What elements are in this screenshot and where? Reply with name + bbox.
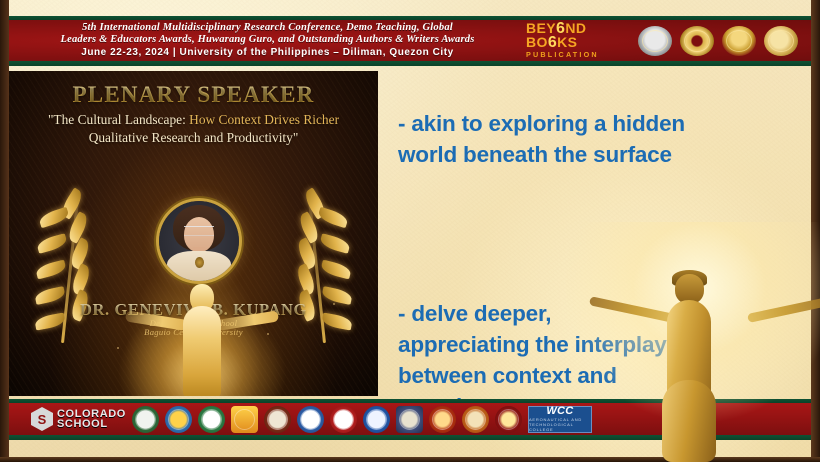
grey-pillar-building-logo-icon	[396, 406, 423, 433]
gold-scroll-seal-icon	[680, 26, 714, 56]
banner-red-body: 5th International Multidisciplinary Rese…	[9, 20, 811, 61]
conference-title-block: 5th International Multidisciplinary Rese…	[9, 22, 520, 59]
talk-title: "The Cultural Landscape: How Context Dri…	[35, 111, 352, 146]
green-circular-seal-icon	[198, 406, 225, 433]
bb-line2-six: 6	[548, 34, 557, 51]
banner-logo-row: BEY6ND BO6KS PUBLICATION	[520, 24, 811, 58]
blue-institution-seal-icon	[363, 406, 390, 433]
maroon-university-seal-icon	[264, 406, 291, 433]
white-blue-seal-icon	[330, 406, 357, 433]
silver-institutional-seal-icon	[638, 26, 672, 56]
talk-title-line1-highlight: How Context Drives Richer	[189, 112, 339, 127]
colorado-logo-line-2: SCHOOL	[57, 419, 126, 430]
quill-and-books-seal-icon	[764, 26, 798, 56]
green-university-seal-icon	[132, 406, 159, 433]
gold-gift-emblem-icon	[231, 406, 258, 433]
slide-paragraph-1-line-1: - akin to exploring a hidden	[398, 108, 794, 139]
plenary-speaker-award-panel: PLENARY SPEAKER "The Cultural Landscape:…	[9, 71, 378, 396]
plenary-speaker-heading: PLENARY SPEAKER	[9, 82, 378, 108]
maroon-eagle-seal-icon	[495, 406, 522, 433]
colorado-school-logo: S COLORADO SCHOOL	[31, 407, 126, 431]
conference-date-venue: June 22-23, 2024 | University of the Phi…	[15, 46, 520, 59]
orange-gear-seal-icon	[462, 406, 489, 433]
gold-award-figure-icon	[127, 282, 277, 396]
colorado-hex-mark-icon: S	[31, 407, 53, 431]
slide-left-frame-edge	[0, 0, 9, 462]
bb-line2-c: KS	[557, 34, 577, 50]
blue-circular-seal-icon	[297, 406, 324, 433]
sunburst-city-seal-icon	[165, 406, 192, 433]
bb-line2-a: BO	[526, 34, 548, 50]
slide-paragraph-1-line-2: world beneath the surface	[398, 139, 794, 170]
conference-top-banner: 5th International Multidisciplinary Rese…	[9, 16, 811, 66]
slide-paragraph-1: - akin to exploring a hidden world benea…	[398, 108, 794, 170]
red-gear-logo-icon	[429, 406, 456, 433]
beyond-books-publication-logo: BEY6ND BO6KS PUBLICATION	[524, 24, 630, 58]
conference-title-line-1: 5th International Multidisciplinary Rese…	[15, 22, 520, 34]
talk-title-line1-pre: "The Cultural Landscape:	[48, 112, 189, 127]
presentation-slide-screenshot: 5th International Multidisciplinary Rese…	[0, 0, 820, 462]
bb-publication-label: PUBLICATION	[526, 50, 630, 59]
banner-bottom-green-stripe	[9, 61, 811, 66]
gold-statue-figure-icon	[596, 268, 820, 462]
gold-star-wreath-seal-icon	[722, 26, 756, 56]
speaker-portrait-avatar	[159, 201, 239, 281]
talk-title-line2: Qualitative Research and Productivity"	[89, 130, 299, 145]
conference-title-line-2: Leaders & Educators Awards, Huwarang Gur…	[15, 34, 520, 46]
